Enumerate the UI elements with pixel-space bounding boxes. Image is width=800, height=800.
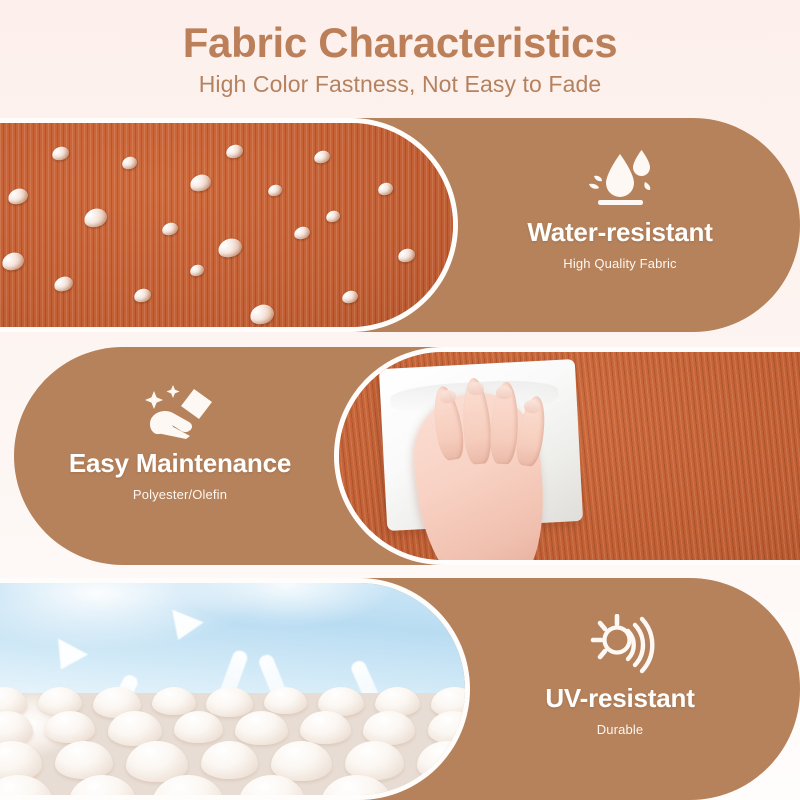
feature-title: Water-resistant bbox=[470, 218, 770, 247]
header: Fabric Characteristics High Color Fastne… bbox=[0, 0, 800, 118]
feature-subtitle: Polyester/Olefin bbox=[30, 487, 330, 502]
sun-uv-rays-icon bbox=[470, 614, 770, 676]
fabric-characteristics-infographic: Fabric Characteristics High Color Fastne… bbox=[0, 0, 800, 800]
quilted-fabric-texture bbox=[0, 693, 465, 795]
feature-panel-water-resistant: Water-resistant High Quality Fabric bbox=[0, 118, 800, 332]
feature-uv-resistant: UV-resistant Durable bbox=[470, 614, 770, 737]
page-title: Fabric Characteristics bbox=[0, 18, 800, 68]
photo-hand-wiping-fabric bbox=[334, 347, 800, 565]
page-subtitle: High Color Fastness, Not Easy to Fade bbox=[0, 71, 800, 98]
photo-water-beading bbox=[0, 118, 458, 332]
feature-subtitle: Durable bbox=[470, 722, 770, 737]
feature-easy-maintenance: Easy Maintenance Polyester/Olefin bbox=[30, 379, 330, 502]
photo-uv-reflection bbox=[0, 578, 470, 800]
feature-subtitle: High Quality Fabric bbox=[470, 256, 770, 271]
water-droplet-icon bbox=[470, 148, 770, 210]
feature-water-resistant: Water-resistant High Quality Fabric bbox=[470, 148, 770, 271]
feature-title: Easy Maintenance bbox=[30, 449, 330, 478]
hand-wiping-sparkle-icon bbox=[30, 379, 330, 441]
feature-title: UV-resistant bbox=[470, 684, 770, 713]
feature-panel-uv-resistant: UV-resistant Durable bbox=[0, 578, 800, 800]
feature-panel-easy-maintenance: Easy Maintenance Polyester/Olefin bbox=[0, 347, 800, 565]
